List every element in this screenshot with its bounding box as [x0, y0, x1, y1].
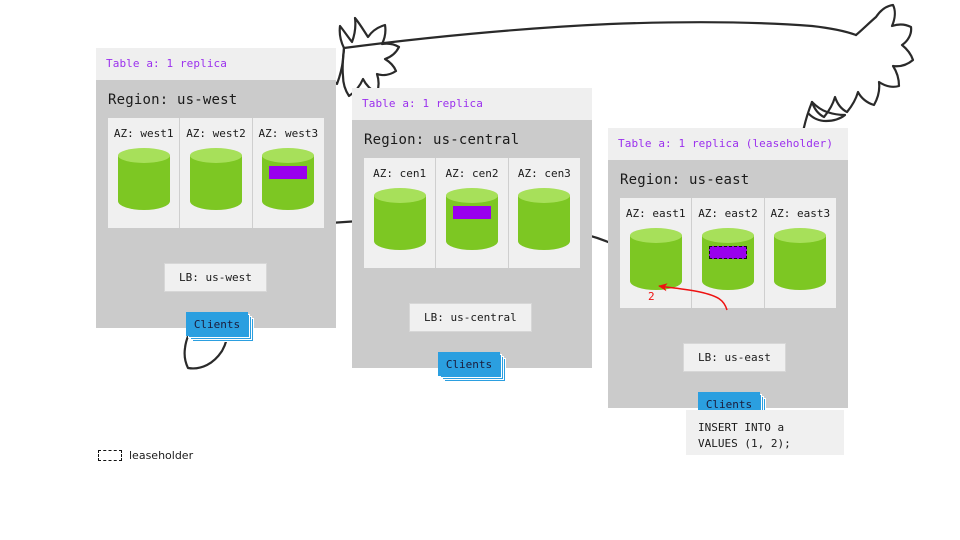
az-cell-cen3[interactable]: AZ: cen3	[509, 158, 580, 268]
load-balancer-box[interactable]: LB: us-central	[409, 303, 532, 332]
diagram-canvas: Table a: 1 replica Region: us-west AZ: w…	[0, 0, 960, 540]
replica-marker	[269, 166, 307, 179]
database-cylinder-icon	[262, 148, 314, 214]
az-cell-west1[interactable]: AZ: west1	[108, 118, 180, 228]
arrow-step-label: 2	[648, 290, 655, 303]
region-panel-us-east: Table a: 1 replica (leaseholder) Region:…	[608, 128, 848, 408]
az-label: AZ: east1	[626, 207, 686, 220]
region-body: Region: us-central AZ: cen1 AZ: cen2	[352, 120, 592, 368]
az-cell-west2[interactable]: AZ: west2	[180, 118, 252, 228]
database-cylinder-icon	[630, 228, 682, 294]
az-label: AZ: cen2	[446, 167, 499, 180]
az-cell-east3[interactable]: AZ: east3	[765, 198, 836, 308]
database-cylinder-icon	[702, 228, 754, 294]
region-body: Region: us-west AZ: west1 AZ: west2 AZ: …	[96, 80, 336, 328]
region-name-label: Region: us-east	[608, 160, 848, 188]
az-cell-cen1[interactable]: AZ: cen1	[364, 158, 436, 268]
region-name-label: Region: us-central	[352, 120, 592, 148]
clients-button-us-west[interactable]: Clients	[186, 312, 258, 346]
region-panel-us-west: Table a: 1 replica Region: us-west AZ: w…	[96, 48, 336, 328]
database-cylinder-icon	[446, 188, 498, 254]
clients-button-label: Clients	[186, 312, 248, 336]
clients-button-label: Clients	[438, 352, 500, 376]
region-panel-us-central: Table a: 1 replica Region: us-central AZ…	[352, 88, 592, 368]
az-label: AZ: west2	[186, 127, 246, 140]
region-header-table-replica: Table a: 1 replica	[352, 88, 592, 120]
database-cylinder-icon	[190, 148, 242, 214]
region-header-table-replica-leaseholder: Table a: 1 replica (leaseholder)	[608, 128, 848, 160]
az-label: AZ: west1	[114, 127, 174, 140]
database-cylinder-icon	[118, 148, 170, 214]
az-label: AZ: west3	[259, 127, 319, 140]
az-label: AZ: east3	[771, 207, 831, 220]
az-label: AZ: cen3	[518, 167, 571, 180]
database-cylinder-icon	[518, 188, 570, 254]
region-body: Region: us-east AZ: east1 AZ: east2	[608, 160, 848, 408]
region-header-table-replica: Table a: 1 replica	[96, 48, 336, 80]
legend-leaseholder: leaseholder	[98, 449, 193, 462]
dashed-rect-icon	[98, 450, 122, 461]
az-label: AZ: cen1	[373, 167, 426, 180]
database-cylinder-icon	[374, 188, 426, 254]
database-cylinder-icon	[774, 228, 826, 294]
replica-marker	[453, 206, 491, 219]
az-row: AZ: cen1 AZ: cen2 AZ: cen3	[364, 158, 580, 268]
load-balancer-box[interactable]: LB: us-east	[683, 343, 786, 372]
az-cell-west3[interactable]: AZ: west3	[253, 118, 324, 228]
region-name-label: Region: us-west	[96, 80, 336, 108]
clients-button-us-central[interactable]: Clients	[438, 352, 510, 386]
leaseholder-replica-marker	[709, 246, 747, 259]
legend-label: leaseholder	[129, 449, 193, 462]
az-cell-east1[interactable]: AZ: east1	[620, 198, 692, 308]
az-row: AZ: west1 AZ: west2 AZ: west3	[108, 118, 324, 228]
az-cell-cen2[interactable]: AZ: cen2	[436, 158, 508, 268]
az-label: AZ: east2	[698, 207, 758, 220]
load-balancer-box[interactable]: LB: us-west	[164, 263, 267, 292]
az-cell-east2[interactable]: AZ: east2	[692, 198, 764, 308]
sql-statement-note: INSERT INTO a VALUES (1, 2);	[686, 410, 844, 455]
